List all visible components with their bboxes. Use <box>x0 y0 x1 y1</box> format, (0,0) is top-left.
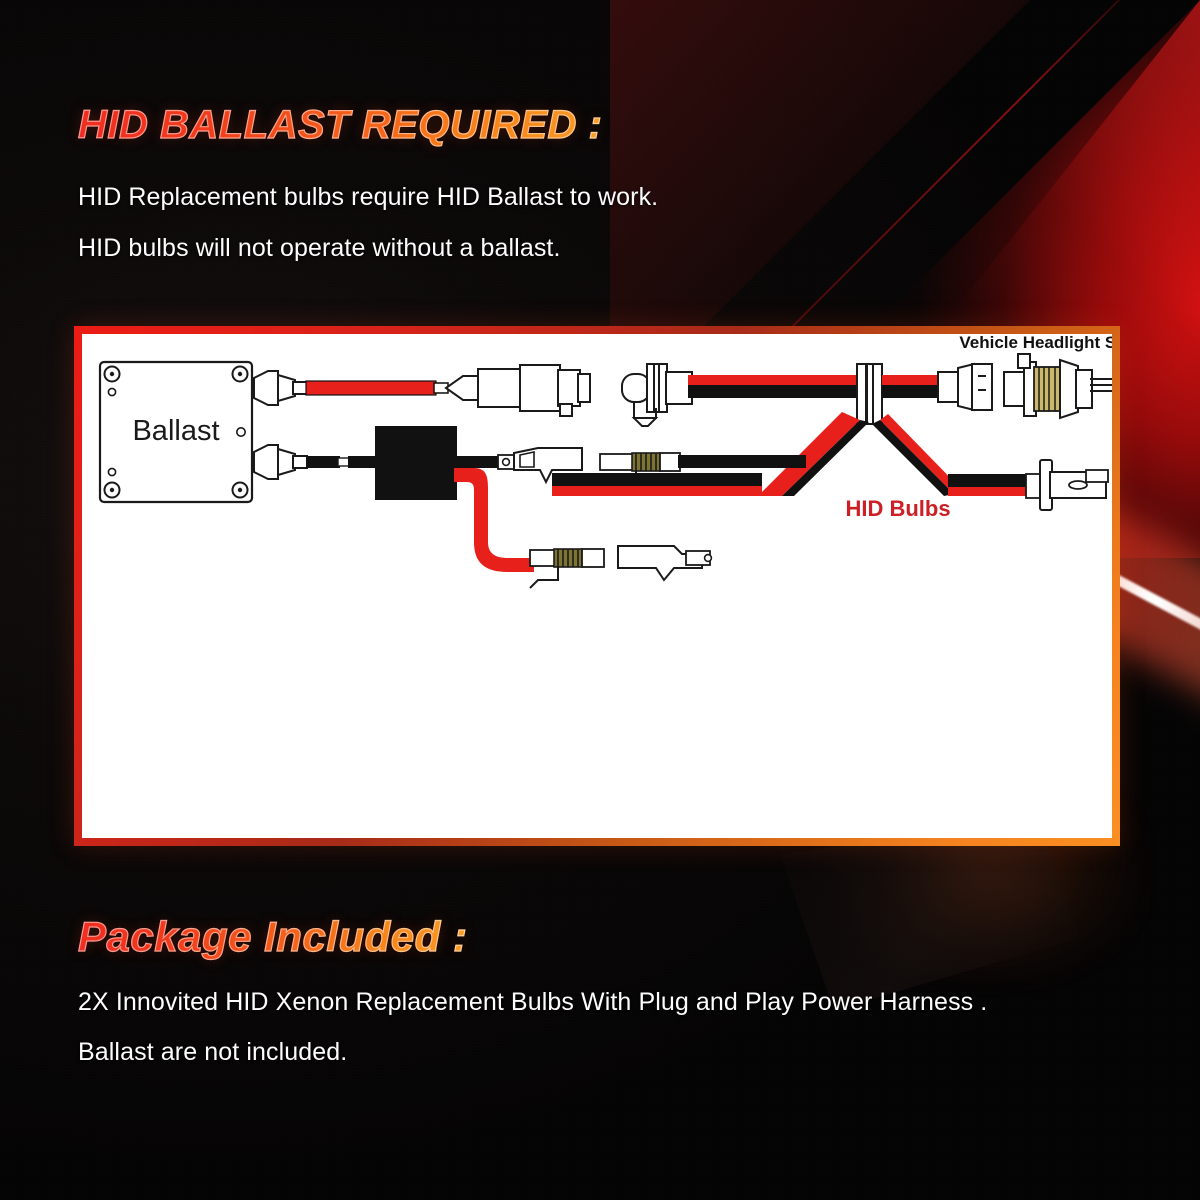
hid-bulbs-label: HID Bulbs <box>845 496 950 521</box>
harness-socket-connector-top <box>622 364 692 426</box>
headlight-plug-top <box>882 364 992 410</box>
wire-black-after-relay <box>454 456 502 468</box>
branch-cable-left <box>758 412 869 496</box>
hid-bulb-right <box>1026 460 1108 510</box>
wiring-diagram-frame: Ballast <box>74 326 1120 846</box>
wiring-diagram-canvas: Ballast <box>82 334 1112 838</box>
spade-connector-lower-male <box>618 546 711 580</box>
inline-bullet-connector <box>446 365 590 416</box>
hid-bulb-left-cable <box>552 473 762 496</box>
package-included-heading: Package Included : <box>78 913 467 961</box>
ballast-box: Ballast <box>100 362 252 502</box>
spade-connector-lower-female <box>530 549 604 588</box>
wire-black-middle-segment <box>306 456 378 468</box>
infographic-page: HID BALLAST REQUIRED : HID Replacement b… <box>0 0 1200 1200</box>
cable-black-middle-run <box>782 455 806 468</box>
wire-red-drop-branch <box>454 468 534 572</box>
wire-split-junction <box>857 364 882 424</box>
package-body-line-2: Ballast are not included. <box>78 1038 347 1067</box>
wire-red-top-segment <box>306 381 448 395</box>
hid-ballast-required-heading: HID BALLAST REQUIRED : <box>78 103 602 148</box>
package-body-line-1: 2X Innovited HID Xenon Replacement Bulbs… <box>78 988 987 1017</box>
hid-ballast-body-line-2: HID bulbs will not operate without a bal… <box>78 234 561 263</box>
hid-ballast-body-line-1: HID Replacement bulbs require HID Ballas… <box>78 183 658 212</box>
vehicle-headlight-socket <box>1004 354 1112 418</box>
vehicle-headlight-socket-label: Vehicle Headlight Socket <box>959 334 1112 352</box>
ballast-box-label: Ballast <box>132 415 219 447</box>
ballast-output-boot-bottom <box>254 445 307 479</box>
ballast-output-boot-top <box>254 371 307 405</box>
relay-black-box <box>376 427 456 499</box>
bulb-feed-cable-right <box>948 474 1032 496</box>
wiring-diagram-illustration: Ballast <box>82 334 1112 838</box>
